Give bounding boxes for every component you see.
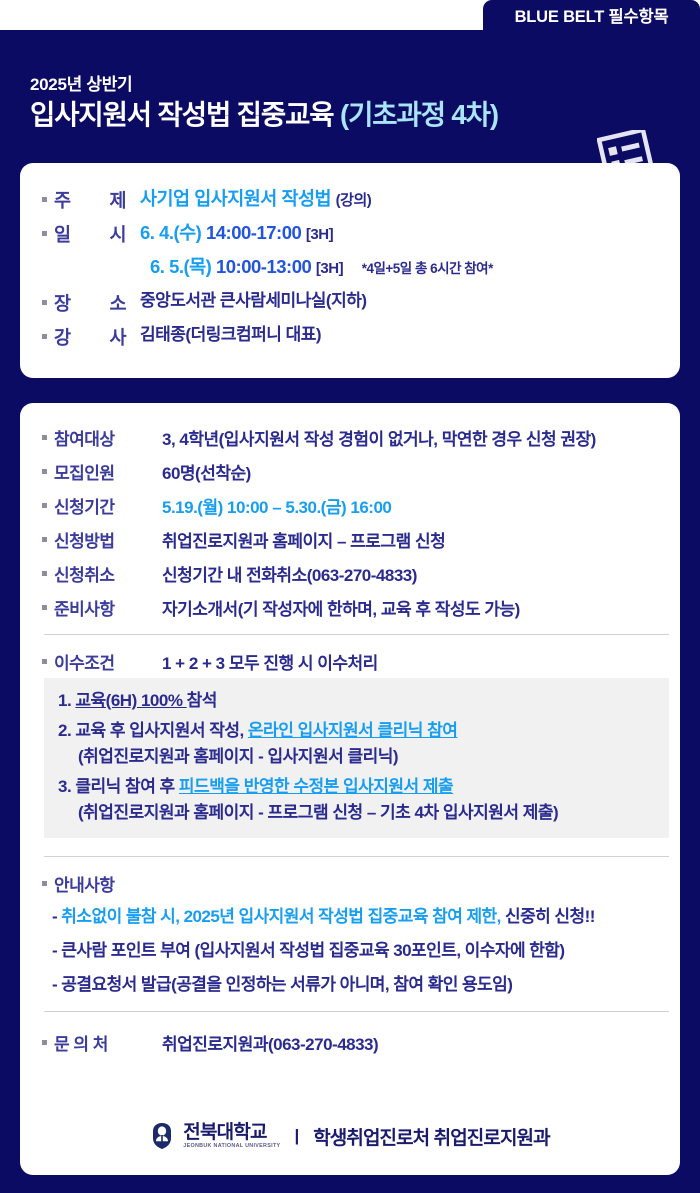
value-target: 3, 4학년(입사지원서 작성 경험이 없거나, 막연한 경우 신청 권장) <box>162 425 596 450</box>
square-bullet-icon <box>42 334 47 339</box>
row-guidance-head: 안내사항 <box>42 871 680 896</box>
value-subject: 사기업 입사지원서 작성법 (강의) <box>140 187 371 212</box>
condition-step-3: 3. 클리닉 참여 후 피드백을 반영한 수정본 입사지원서 제출 <box>44 770 669 800</box>
square-bullet-icon <box>42 659 47 664</box>
square-bullet-icon <box>42 300 47 305</box>
label-preparation: 준비사항 <box>54 595 162 620</box>
square-bullet-icon <box>42 571 47 576</box>
page-title-main: 입사지원서 작성법 집중교육 <box>30 99 340 130</box>
row-preparation: 준비사항 자기소개서(기 작성자에 한하며, 교육 후 작성도 가능) <box>42 595 680 620</box>
condition-step-1: 1. 교육(6H) 100% 참석 <box>44 684 669 714</box>
value-apply-method: 취업진로지원과 홈페이지 – 프로그램 신청 <box>162 527 445 552</box>
row-datetime-second: 6. 5.(목) 10:00-13:00 [3H] *4일+5일 총 6시간 참… <box>150 255 680 280</box>
footer-department: 학생취업진로처 취업진로지원과 <box>313 1123 550 1150</box>
row-subject: 주 제 사기업 입사지원서 작성법 (강의) <box>42 187 680 213</box>
value-contact: 취업진로지원과(063-270-4833) <box>162 1030 378 1055</box>
footer-logo-bar: 전북대학교 JEONBUK NATIONAL UNIVERSITY | 학생취업… <box>0 1122 700 1150</box>
square-bullet-icon <box>42 231 47 236</box>
value-place: 중앙도서관 큰사람세미나실(지하) <box>140 290 367 313</box>
square-bullet-icon <box>42 537 47 542</box>
square-bullet-icon <box>42 435 47 440</box>
label-apply-period: 신청기간 <box>54 493 162 518</box>
footer-separator: | <box>294 1126 299 1146</box>
label-apply-method: 신청방법 <box>54 527 162 552</box>
square-bullet-icon <box>42 881 47 886</box>
label-cancel: 신청취소 <box>54 561 162 586</box>
label-lecturer: 강 사 <box>54 324 140 350</box>
row-capacity: 모집인원 60명(선착순) <box>42 459 680 484</box>
square-bullet-icon <box>42 605 47 610</box>
university-name-ko: 전북대학교 <box>183 1123 280 1142</box>
guidance-line-2: - 큰사람 포인트 부여 (입사지원서 작성법 집중교육 30포인트, 이수자에… <box>42 936 680 961</box>
value-apply-period: 5.19.(월) 10:00 – 5.30.(금) 16:00 <box>162 493 391 518</box>
university-shield-icon <box>150 1122 174 1150</box>
label-condition: 이수조건 <box>54 649 162 674</box>
value-datetime-first: 6. 4.(수) 14:00-17:00 [3H] <box>140 221 333 246</box>
label-datetime: 일 시 <box>54 221 140 247</box>
detail-card: 참여대상 3, 4학년(입사지원서 작성 경험이 없거나, 막연한 경우 신청 … <box>20 403 680 1175</box>
divider-above-contact <box>44 1011 669 1012</box>
label-subject: 주 제 <box>54 187 140 213</box>
row-datetime: 일 시 6. 4.(수) 14:00-17:00 [3H] <box>42 221 680 247</box>
schedule-card: 주 제 사기업 입사지원서 작성법 (강의) 일 시 6. 4.(수) 14:0… <box>20 163 680 378</box>
row-apply-method: 신청방법 취업진로지원과 홈페이지 – 프로그램 신청 <box>42 527 680 552</box>
divider-above-conditions <box>44 634 669 635</box>
row-contact: 문 의 처 취업진로지원과(063-270-4833) <box>42 1030 680 1055</box>
value-datetime-second: 6. 5.(목) 10:00-13:00 [3H] *4일+5일 총 6시간 참… <box>150 255 493 280</box>
value-lecturer: 김태종(더링크컴퍼니 대표) <box>140 324 321 347</box>
row-cancel: 신청취소 신청기간 내 전화취소(063-270-4833) <box>42 561 680 586</box>
row-apply-period: 신청기간 5.19.(월) 10:00 – 5.30.(금) 16:00 <box>42 493 680 518</box>
guidance-line-1: - 취소없이 불참 시, 2025년 입사지원서 작성법 집중교육 참여 제한,… <box>42 902 680 927</box>
page-title: 입사지원서 작성법 집중교육 (기초과정 4차) <box>30 92 498 132</box>
value-capacity: 60명(선착순) <box>162 459 251 484</box>
university-name-block: 전북대학교 JEONBUK NATIONAL UNIVERSITY <box>183 1123 280 1149</box>
university-name-en: JEONBUK NATIONAL UNIVERSITY <box>183 1144 280 1149</box>
value-condition: 1 + 2 + 3 모두 진행 시 이수처리 <box>162 649 378 674</box>
guidance-line-3: - 공결요청서 발급(공결을 인정하는 서류가 아니며, 참여 확인 용도임) <box>42 970 680 995</box>
row-condition-head: 이수조건 1 + 2 + 3 모두 진행 시 이수처리 <box>42 649 680 674</box>
row-lecturer: 강 사 김태종(더링크컴퍼니 대표) <box>42 324 680 350</box>
label-target: 참여대상 <box>54 425 162 450</box>
condition-step-3-note: (취업진로지원과 홈페이지 - 프로그램 신청 – 기초 4차 입사지원서 제출… <box>44 799 669 826</box>
page-title-accent: (기초과정 4차) <box>340 99 498 130</box>
poster-header: 2025년 상반기 입사지원서 작성법 집중교육 (기초과정 4차) <box>0 30 700 160</box>
label-guidance: 안내사항 <box>54 871 162 896</box>
divider-above-guidance <box>44 856 669 857</box>
row-place: 장 소 중앙도서관 큰사람세미나실(지하) <box>42 290 680 316</box>
label-place: 장 소 <box>54 290 140 316</box>
square-bullet-icon <box>42 197 47 202</box>
square-bullet-icon <box>42 503 47 508</box>
label-capacity: 모집인원 <box>54 459 162 484</box>
square-bullet-icon <box>42 1040 47 1045</box>
blue-belt-tab: BLUE BELT 필수항목 <box>483 0 700 30</box>
condition-steps-box: 1. 교육(6H) 100% 참석 2. 교육 후 입사지원서 작성, 온라인 … <box>44 678 669 838</box>
blue-belt-tab-label: BLUE BELT 필수항목 <box>515 3 669 27</box>
value-preparation: 자기소개서(기 작성자에 한하며, 교육 후 작성도 가능) <box>162 595 520 620</box>
square-bullet-icon <box>42 469 47 474</box>
label-contact: 문 의 처 <box>54 1030 162 1055</box>
row-target: 참여대상 3, 4학년(입사지원서 작성 경험이 없거나, 막연한 경우 신청 … <box>42 425 680 450</box>
value-cancel: 신청기간 내 전화취소(063-270-4833) <box>162 561 417 586</box>
condition-step-2-note: (취업진로지원과 홈페이지 - 입사지원서 클리닉) <box>44 743 669 770</box>
condition-step-2: 2. 교육 후 입사지원서 작성, 온라인 입사지원서 클리닉 참여 <box>44 714 669 744</box>
